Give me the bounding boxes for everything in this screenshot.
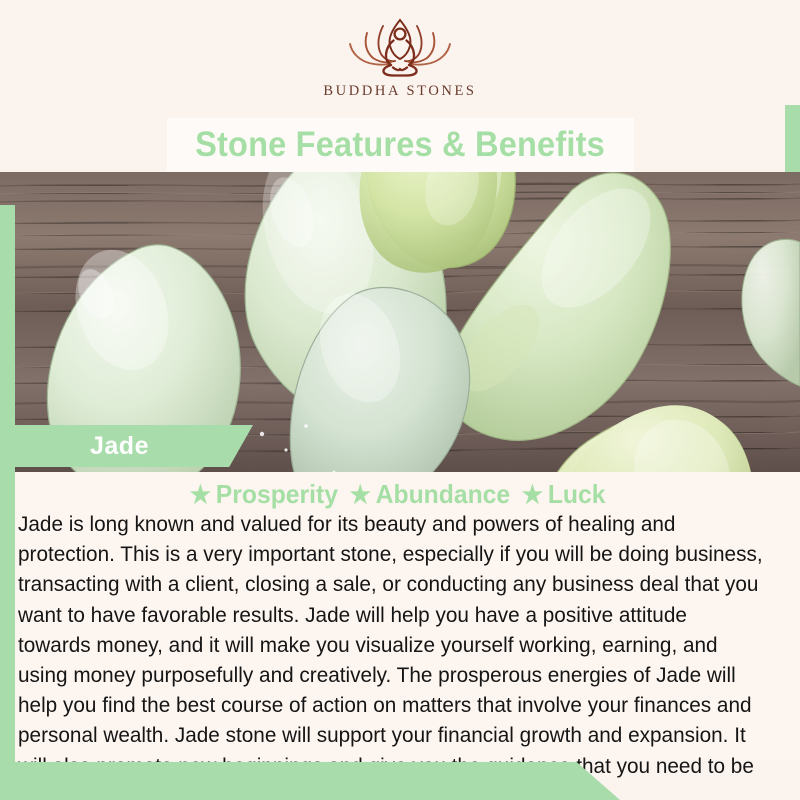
brand-wordmark: BUDDHA STONES bbox=[323, 83, 476, 100]
star-icon: ★ bbox=[522, 481, 543, 509]
accent-bar-left bbox=[0, 205, 15, 800]
star-icon: ★ bbox=[190, 481, 211, 509]
lotus-meditation-icon bbox=[334, 16, 466, 78]
star-icon: ★ bbox=[350, 481, 371, 509]
keyword-prosperity: Prosperity bbox=[216, 479, 338, 509]
infographic-card: BUDDHA STONES Stone Features & Benefits bbox=[0, 0, 800, 800]
brand-header: BUDDHA STONES bbox=[0, 0, 800, 118]
description-text: Jade is long known and valued for its be… bbox=[18, 509, 763, 800]
keyword-luck: Luck bbox=[548, 479, 606, 509]
benefit-keywords: ★Prosperity ★Abundance ★Luck bbox=[20, 478, 780, 511]
keyword-abundance: Abundance bbox=[376, 479, 510, 509]
accent-bar-bottom bbox=[0, 762, 620, 800]
logo-lockup: BUDDHA STONES bbox=[323, 16, 476, 100]
page-title: Stone Features & Benefits bbox=[28, 119, 772, 171]
stone-name-label: Jade bbox=[90, 427, 149, 465]
